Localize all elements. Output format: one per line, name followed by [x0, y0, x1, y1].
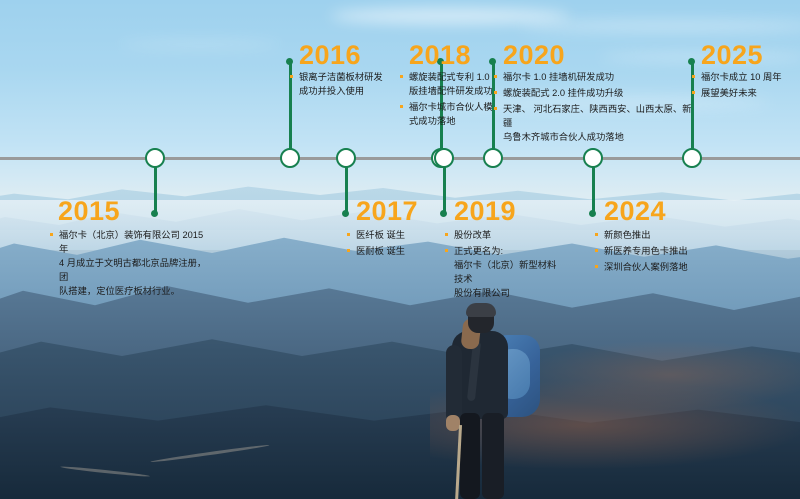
timeline-axis [0, 157, 800, 160]
hiker-leg [460, 413, 480, 499]
milestone-item: 天津、 河北石家庄、陕西西安、山西太原、新疆 乌鲁木齐城市合伙人成功落地 [494, 102, 694, 144]
milestone-item: 医纤板 诞生 [347, 228, 457, 242]
timeline-stem-dot-2017 [342, 210, 349, 217]
milestone-item: 新颜色推出 [595, 228, 725, 242]
milestone-items-2020: 福尔卡 1.0 挂墙机研发成功 螺旋装配式 2.0 挂件成功升级 天津、 河北石… [494, 70, 694, 146]
year-label-2024: 2024 [604, 198, 666, 225]
timeline-stem-dot-2025 [688, 58, 695, 65]
timeline-node-2015[interactable] [145, 148, 165, 168]
cloud [330, 8, 570, 24]
milestone-item: 螺旋装配式 2.0 挂件成功升级 [494, 86, 694, 100]
timeline-node-2016[interactable] [280, 148, 300, 168]
cloud [600, 52, 800, 62]
hiker-arm [446, 345, 462, 423]
timeline-node-2017[interactable] [336, 148, 356, 168]
milestone-item: 股份改革 [445, 228, 565, 242]
milestone-item: 新医养专用色卡推出 [595, 244, 725, 258]
hiker-leg [482, 413, 504, 499]
year-label-2018: 2018 [409, 42, 471, 69]
timeline-stem-dot-2019 [440, 210, 447, 217]
milestone-item: 正式更名为: 福尔卡（北京）新型材料技术 股份有限公司 [445, 244, 565, 300]
timeline-stem-2024 [592, 166, 595, 213]
cloud [520, 20, 800, 32]
timeline-stem-dot-2016 [286, 58, 293, 65]
milestone-item: 医耐板 诞生 [347, 244, 457, 258]
milestone-item: 深圳合伙人案例落地 [595, 260, 725, 274]
milestone-items-2019: 股份改革 正式更名为: 福尔卡（北京）新型材料技术 股份有限公司 [445, 228, 565, 302]
milestone-items-2024: 新颜色推出 新医养专用色卡推出 深圳合伙人案例落地 [595, 228, 725, 276]
timeline-stem-dot-2024 [589, 210, 596, 217]
timeline-node-2024[interactable] [583, 148, 603, 168]
timeline-stem-2015 [154, 166, 157, 213]
year-label-2015: 2015 [58, 198, 120, 225]
milestone-item: 银离子洁菌板材研发 成功并投入使用 [290, 70, 395, 98]
milestone-item: 福尔卡 1.0 挂墙机研发成功 [494, 70, 694, 84]
milestone-items-2025: 福尔卡成立 10 周年 展望美好未来 [692, 70, 800, 102]
milestone-items-2016: 银离子洁菌板材研发 成功并投入使用 [290, 70, 395, 100]
milestone-item: 福尔卡成立 10 周年 [692, 70, 800, 84]
milestone-item: 展望美好未来 [692, 86, 800, 100]
milestone-item: 福尔卡（北京）装饰有限公司 2015 年 4 月成立于文明古都北京品牌注册，团 … [50, 228, 210, 298]
hiker-cap [466, 303, 496, 317]
timeline-node-2025[interactable] [682, 148, 702, 168]
year-label-2025: 2025 [701, 42, 763, 69]
year-label-2016: 2016 [299, 42, 361, 69]
timeline-stem-dot-2020 [489, 58, 496, 65]
year-label-2020: 2020 [503, 42, 565, 69]
milestone-items-2017: 医纤板 诞生 医耐板 诞生 [347, 228, 457, 260]
timeline-stem-dot-2015 [151, 210, 158, 217]
milestone-items-2015: 福尔卡（北京）装饰有限公司 2015 年 4 月成立于文明古都北京品牌注册，团 … [50, 228, 210, 300]
timeline-node-2020[interactable] [483, 148, 503, 168]
timeline-node-2019[interactable] [434, 148, 454, 168]
timeline-stem-2017 [345, 166, 348, 213]
timeline-infographic: 2015 福尔卡（北京）装饰有限公司 2015 年 4 月成立于文明古都北京品牌… [0, 0, 800, 499]
cloud [120, 40, 280, 49]
timeline-stem-2019 [443, 166, 446, 213]
hiker-figure [424, 305, 554, 499]
year-label-2017: 2017 [356, 198, 418, 225]
year-label-2019: 2019 [454, 198, 516, 225]
